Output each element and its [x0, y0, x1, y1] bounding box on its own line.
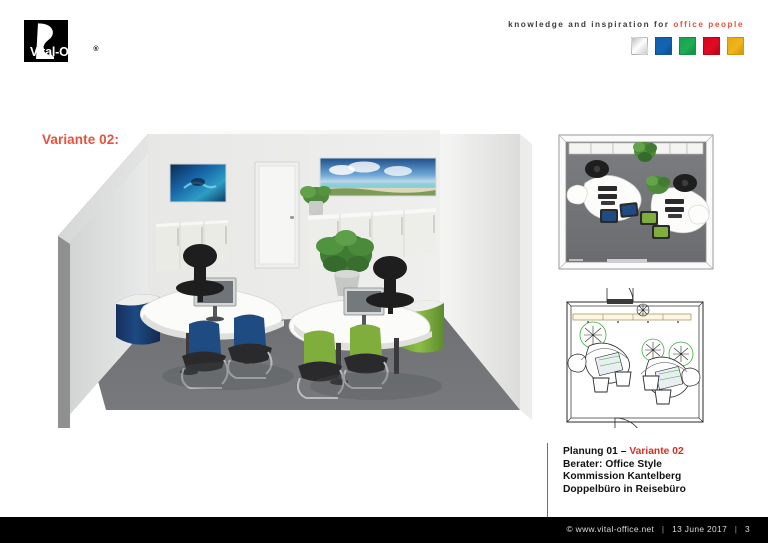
swatch-yellow	[727, 37, 744, 55]
footer-separator-1: |	[657, 524, 670, 534]
brand-wordmark: Vital-Office®	[30, 45, 98, 59]
swatch-green	[679, 37, 696, 55]
tagline: knowledge and inspiration for office peo…	[508, 20, 744, 29]
swatch-blue	[655, 37, 672, 55]
floor-plan-top-view	[557, 133, 715, 271]
office-3d-render	[58, 128, 538, 428]
swatch-red	[703, 37, 720, 55]
footer-text: © www.vital-office.net | 13 June 2017 | …	[566, 524, 750, 534]
footer-bar: © www.vital-office.net | 13 June 2017 | …	[0, 517, 768, 543]
caption-plan-label: Planung 01 –	[563, 446, 629, 457]
footer-page-number: 3	[745, 524, 750, 534]
brand-color-swatches	[631, 37, 744, 55]
caption-divider	[547, 443, 548, 517]
registered-mark-icon: ®	[93, 46, 98, 53]
copyright-symbol: ©	[566, 524, 573, 534]
brand-logo[interactable]: Vital-Office®	[24, 20, 96, 62]
floor-plan-cad-drawing	[557, 288, 715, 428]
footer-separator-2: |	[730, 524, 743, 534]
swatch-silver	[631, 37, 648, 55]
slide-page: Vital-Office® knowledge and inspiration …	[0, 0, 768, 543]
project-caption: Planung 01 – Variante 02 Berater: Office…	[563, 446, 686, 496]
caption-line-1: Planung 01 – Variante 02	[563, 446, 686, 459]
footer-website[interactable]: www.vital-office.net	[576, 524, 655, 534]
tagline-main: knowledge and inspiration for	[508, 20, 669, 29]
caption-variant-accent: Variante 02	[629, 446, 683, 457]
brand-wordmark-text: Vital-Office	[30, 45, 93, 59]
caption-line-4: Doppelbüro in Reisebüro	[563, 484, 686, 497]
caption-line-2: Berater: Office Style	[563, 459, 686, 472]
caption-line-3: Kommission Kantelberg	[563, 471, 686, 484]
footer-date: 13 June 2017	[672, 524, 727, 534]
tagline-accent: office people	[673, 20, 744, 29]
